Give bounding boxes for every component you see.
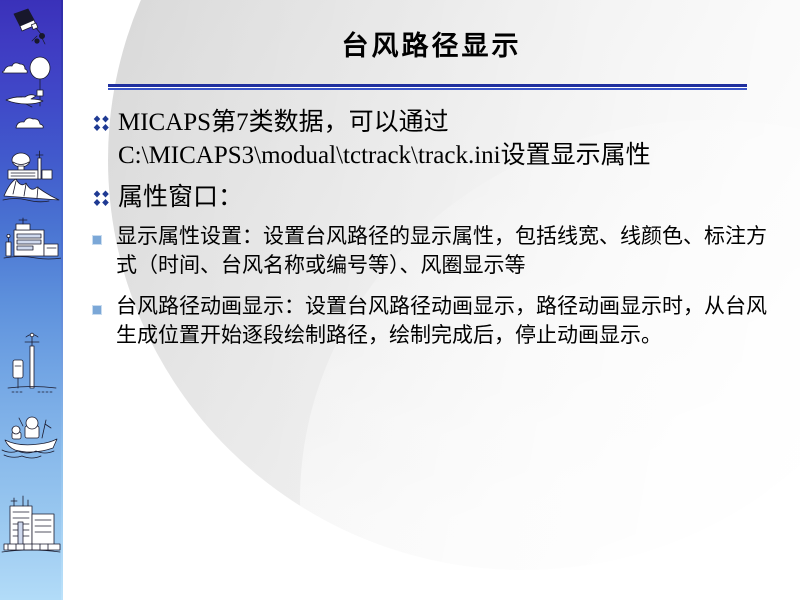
- bullet-text-level1: 属性窗口：: [118, 181, 782, 214]
- diamond-cluster-bullet-icon: [92, 106, 118, 133]
- bullet-item-level2: 显示属性设置：设置台风路径的显示属性，包括线宽、线颜色、标注方式（时间、台风名称…: [92, 222, 782, 280]
- square-bullet-icon: [92, 222, 116, 250]
- presentation-slide: 台风路径显示 MICAPS第7类数据，可以通过C:\MICAPS3\modual…: [0, 0, 800, 600]
- automatic-weather-station-icon: [8, 333, 56, 392]
- bullet-item-level2: 台风路径动画显示：设置台风路径动画显示，路径动画显示时，从台风生成位置开始逐段绘…: [92, 292, 782, 350]
- rule-line-light: [108, 88, 747, 90]
- sidebar-illustration-strip: [0, 0, 63, 600]
- meteorological-center-icon: [2, 496, 60, 552]
- aircraft-icon: [6, 95, 43, 107]
- bullet-text-level2: 显示属性设置：设置台风路径的显示属性，包括线宽、线颜色、标注方式（时间、台风名称…: [116, 222, 782, 280]
- satellite-icon: [14, 9, 45, 44]
- bullet-text-level1: MICAPS第7类数据，可以通过C:\MICAPS3\modual\tctrac…: [118, 106, 782, 172]
- bullet-text-level2: 台风路径动画显示：设置台风路径动画显示，路径动画显示时，从台风生成位置开始逐段绘…: [116, 292, 782, 350]
- sub-bullet-group: 显示属性设置：设置台风路径的显示属性，包括线宽、线颜色、标注方式（时间、台风名称…: [92, 222, 782, 350]
- sidebar-edge-stripe: [61, 0, 63, 600]
- weather-office-icon: [4, 218, 62, 259]
- title-underline-rule: [108, 84, 747, 91]
- slide-body: MICAPS第7类数据，可以通过C:\MICAPS3\modual\tctrac…: [92, 106, 782, 356]
- bullet-item-level1: MICAPS第7类数据，可以通过C:\MICAPS3\modual\tctrac…: [92, 106, 782, 172]
- slide-title: 台风路径显示: [63, 24, 800, 63]
- square-bullet-icon: [92, 292, 116, 320]
- radar-station-icon: [3, 151, 59, 202]
- diamond-cluster-bullet-icon: [92, 181, 118, 208]
- left-illustration-sidebar: [0, 0, 63, 600]
- research-vessel-icon: [2, 417, 57, 458]
- bullet-item-level1: 属性窗口：: [92, 181, 782, 214]
- cloud-icon: [16, 118, 43, 128]
